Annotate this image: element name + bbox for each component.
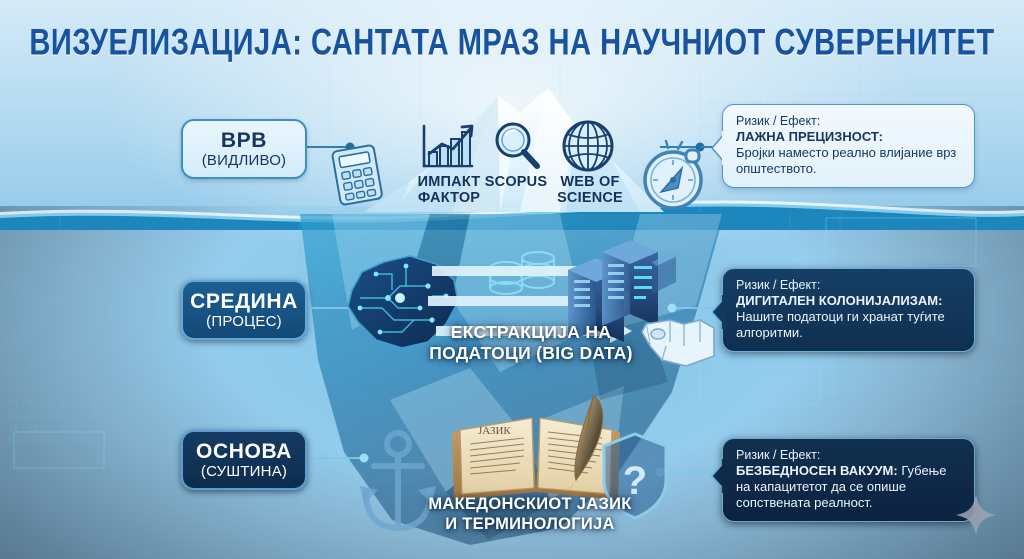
callout-bottom[interactable]: Ризик / Ефект: БЕЗБЕДНОСЕН ВАКУУМ: Губењ… [722, 438, 975, 522]
callout-bottom-tail [708, 456, 726, 496]
callout-bottom-lead: Ризик / Ефект: [736, 448, 962, 463]
callout-middle-body: ДИГИТАЛЕН КОЛОНИЈАЛИЗАМ: Нашите податоци… [736, 293, 962, 341]
stage-label-middle[interactable]: СРЕДИНА (ПРОЦЕС) [181, 280, 307, 340]
callout-middle-heading: ДИГИТАЛЕН КОЛОНИЈАЛИЗАМ: [736, 293, 942, 308]
callout-top-heading: ЛАЖНА ПРЕЦИЗНОСТ: [736, 129, 883, 144]
callout-bottom-body: БЕЗБЕДНОСЕН ВАКУУМ: Губење на капацитето… [736, 463, 962, 511]
magnifier-icon [489, 118, 543, 174]
svg-text:ЈАЗИК: ЈАЗИК [478, 425, 511, 437]
calculator-icon [326, 142, 388, 206]
stage-label-top[interactable]: ВРВ (ВИДЛИВО) [181, 119, 307, 179]
stage-label-bottom[interactable]: ОСНОВА (СУШТИНА) [181, 430, 307, 490]
sparkle-icon [954, 493, 998, 537]
callout-top-tail [708, 128, 726, 168]
stage-label-top-sub: (ВИДЛИВО) [202, 152, 287, 169]
stage-label-top-title: ВРВ [221, 129, 267, 152]
callout-middle-text: Нашите податоци ги хранат туѓите алгорит… [736, 309, 945, 340]
callout-top-text: Брojки наместо реално влијание врз опште… [736, 145, 956, 176]
stage-label-bottom-title: ОСНОВА [196, 440, 292, 463]
stage-label-middle-title: СРЕДИНА [190, 290, 298, 313]
callout-middle[interactable]: Ризик / Ефект: ДИГИТАЛЕН КОЛОНИЈАЛИЗАМ: … [722, 268, 975, 352]
callout-top-body: ЛАЖНА ПРЕЦИЗНОСТ: Брojки наместо реално … [736, 129, 962, 177]
callout-middle-tail [708, 292, 726, 332]
caption-middle: ЕКСТРАКЦИЈА НА ПОДАТОЦИ (BIG DATA) [390, 322, 672, 364]
callout-bottom-heading: БЕЗБЕДНОСЕН ВАКУУМ: [736, 463, 898, 478]
icon-label-scopus: SCOPUS [476, 174, 556, 190]
caption-bottom: МАКЕДОНСКИОТ ЈАЗИК И ТЕРМИНОЛОГИЈА [380, 494, 680, 534]
stage-label-bottom-sub: (СУШТИНА) [201, 463, 287, 480]
globe-icon [560, 118, 616, 176]
callout-middle-lead: Ризик / Ефект: [736, 278, 962, 293]
callout-top[interactable]: Ризик / Ефект: ЛАЖНА ПРЕЦИЗНОСТ: Брojки … [722, 104, 975, 188]
callout-top-lead: Ризик / Ефект: [736, 114, 962, 129]
icon-label-web-of-science: WEB OF SCIENCE [548, 174, 632, 206]
bar-chart-growth-icon [416, 122, 478, 172]
infographic-canvas: 10110 01001 1100 0011 101101 0010 11001 … [0, 0, 1024, 559]
compass-icon [638, 136, 712, 212]
stage-label-middle-sub: (ПРОЦЕС) [206, 313, 282, 330]
